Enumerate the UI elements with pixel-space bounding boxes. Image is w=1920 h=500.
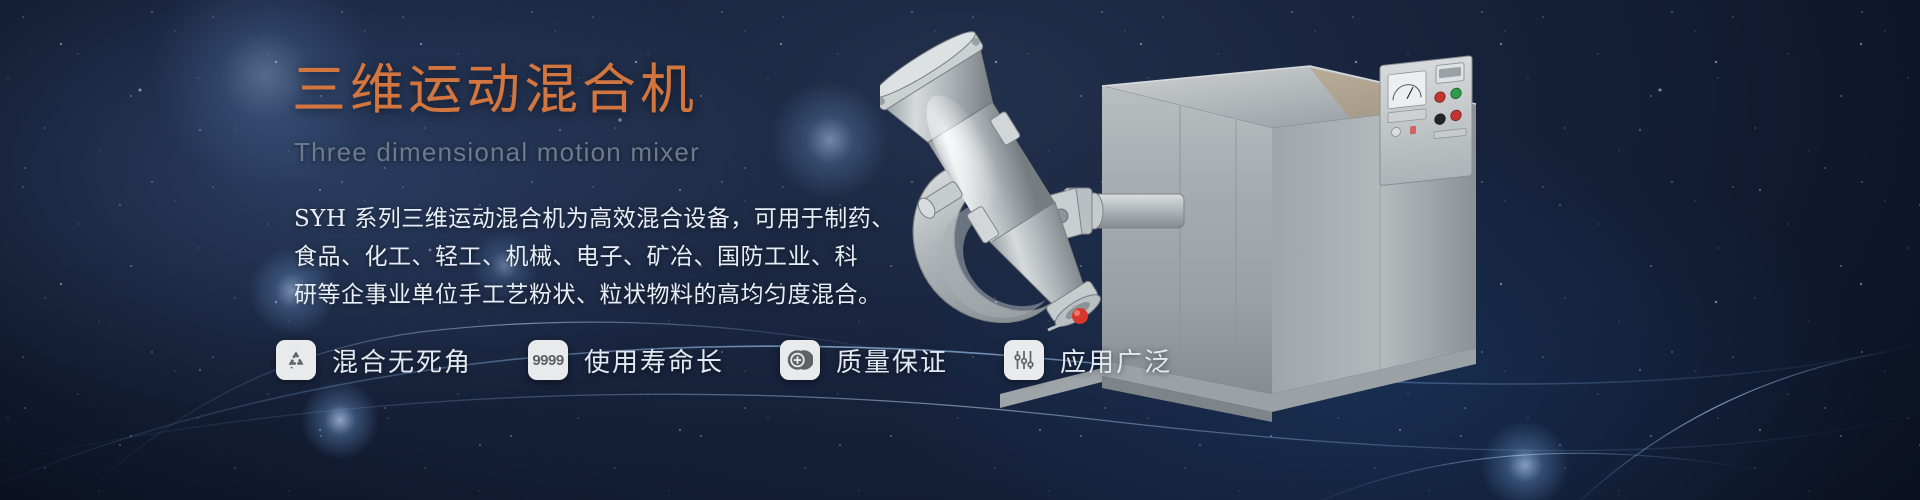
- recycle-icon: [276, 340, 316, 380]
- description-line: SYH 系列三维运动混合机为高效混合设备，可用于制药、: [294, 200, 924, 238]
- sliders-icon: [1004, 340, 1044, 380]
- description-line: 食品、化工、轻工、机械、电子、矿冶、国防工业、科: [294, 238, 924, 276]
- product-banner: 三维运动混合机 Three dimensional motion mixer S…: [0, 0, 1920, 500]
- feature-item[interactable]: 质量保证: [780, 340, 948, 380]
- feature-label: 质量保证: [836, 342, 948, 379]
- lifespan-badge-value: 9999: [532, 352, 563, 369]
- star-glow: [300, 380, 380, 460]
- feature-item[interactable]: 9999 使用寿命长: [528, 340, 724, 380]
- description-line: 研等企事业单位手工艺粉状、粒状物料的高均匀度混合。: [294, 276, 924, 314]
- control-panel: [1380, 56, 1472, 186]
- feature-item[interactable]: 混合无死角: [276, 340, 472, 380]
- product-description: SYH 系列三维运动混合机为高效混合设备，可用于制药、 食品、化工、轻工、机械、…: [294, 200, 924, 314]
- lifespan-9999-icon: 9999: [528, 340, 568, 380]
- feature-label: 使用寿命长: [584, 342, 724, 379]
- feature-item[interactable]: 应用广泛: [1004, 340, 1172, 380]
- star-glow: [1480, 420, 1570, 500]
- feature-list: 混合无死角 9999 使用寿命长 质量保证: [276, 340, 1172, 380]
- feature-label: 应用广泛: [1060, 342, 1172, 379]
- page-subtitle: Three dimensional motion mixer: [294, 137, 1012, 168]
- feature-label: 混合无死角: [332, 342, 472, 379]
- page-title: 三维运动混合机: [292, 62, 1012, 119]
- banner-copy: 三维运动混合机 Three dimensional motion mixer S…: [292, 62, 1012, 314]
- quality-coin-icon: [780, 340, 820, 380]
